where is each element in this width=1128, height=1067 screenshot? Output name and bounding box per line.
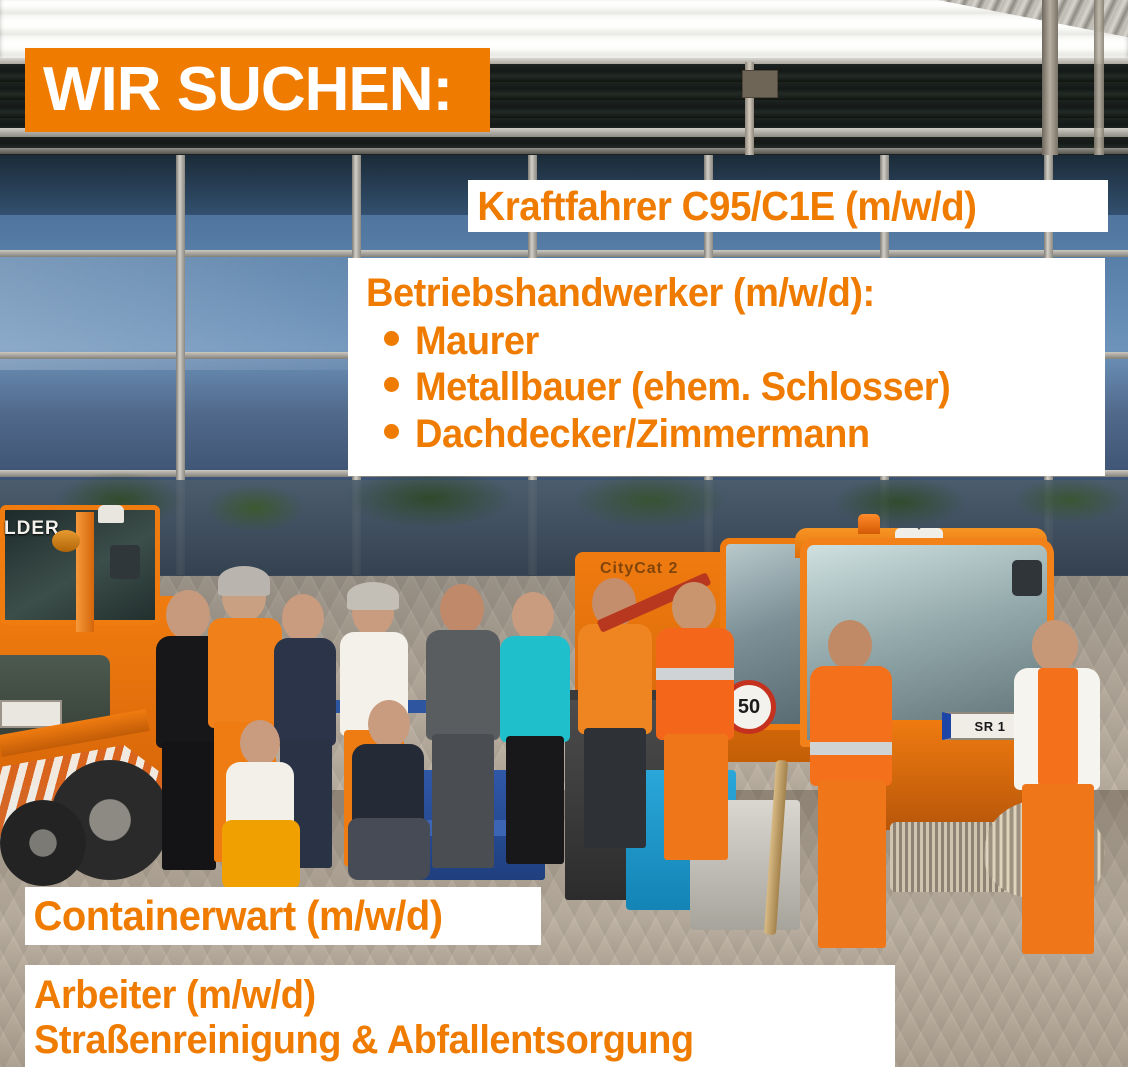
compact-tractor-licence-plate (0, 700, 62, 728)
compact-tractor-beacon (98, 505, 124, 523)
compact-tractor-brand-label: LDER (4, 518, 60, 540)
bullet-icon (384, 424, 399, 439)
bullet-icon (384, 377, 399, 392)
soffit-beam-lower (0, 148, 1128, 154)
headline-banner: WIR SUCHEN: (25, 48, 490, 132)
job-title-container-warden: Containerwart (m/w/d) (25, 895, 443, 937)
bullet-icon (384, 331, 399, 346)
job-box-tradesman: Betriebshandwerker (m/w/d): Maurer Metal… (348, 258, 1105, 476)
list-item: Dachdecker/Zimmermann (366, 411, 1105, 457)
street-sweeper-beacon (858, 514, 880, 534)
trade-label: Metallbauer (ehem. Schlosser) (415, 364, 950, 410)
list-item: Maurer (366, 318, 1105, 364)
compact-tractor-pillar (76, 512, 94, 632)
street-sweeper-mirror (1012, 560, 1042, 596)
compact-tractor-worklight (52, 530, 80, 552)
job-box-worker: Arbeiter (m/w/d) Straßenreinigung & Abfa… (25, 965, 895, 1067)
job-box-container-warden: Containerwart (m/w/d) (25, 887, 541, 945)
job-box-driver: Kraftfahrer C95/C1E (m/w/d) (468, 180, 1108, 232)
canopy-lamp (742, 70, 778, 98)
trade-label: Dachdecker/Zimmermann (415, 411, 870, 457)
list-item: Metallbauer (ehem. Schlosser) (366, 364, 1105, 410)
tradesman-trade-list: Maurer Metallbauer (ehem. Schlosser) Dac… (366, 318, 1105, 457)
facade-mullion-horizontal-1 (0, 250, 1128, 257)
trade-label: Maurer (415, 318, 539, 364)
job-title-driver: Kraftfahrer C95/C1E (m/w/d) (468, 186, 977, 227)
job-title-tradesman: Betriebshandwerker (m/w/d): (366, 272, 1068, 314)
compact-tractor-wheel-front (0, 800, 86, 886)
compact-tractor-mirror (110, 545, 140, 579)
job-advert-poster: LDER CityCat 2 50 SR 1 (0, 0, 1128, 1067)
headline-text: WIR SUCHEN: (25, 59, 452, 121)
job-subtitle-worker: Straßenreinigung & Abfallentsorgung (34, 1018, 852, 1063)
job-title-worker: Arbeiter (m/w/d) (34, 973, 852, 1018)
